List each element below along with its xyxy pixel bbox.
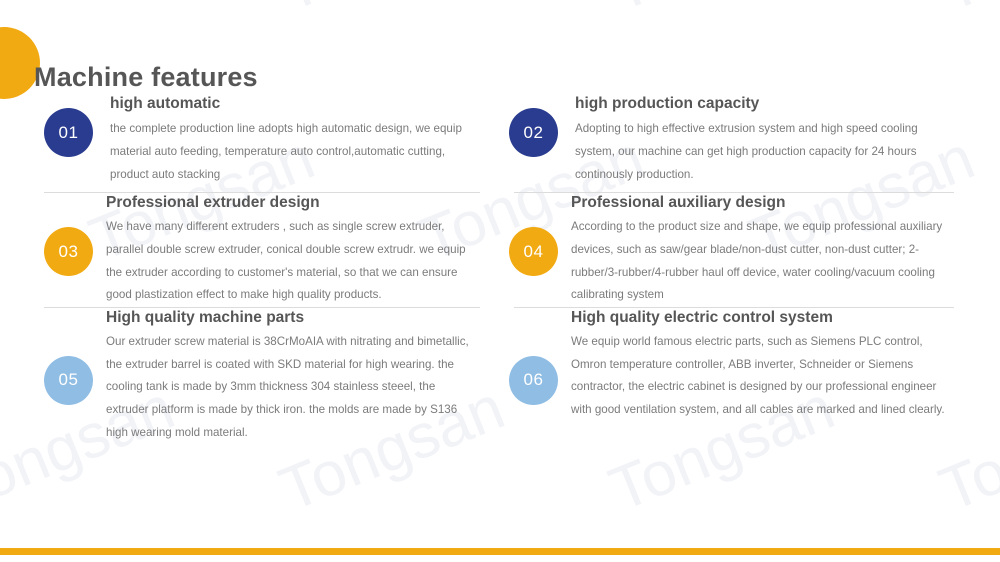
- feature-title-06: High quality electric control system: [571, 308, 958, 327]
- feature-row-3: 05 High quality machine parts Our extrud…: [0, 308, 1000, 444]
- feature-title-03: Professional extruder design: [106, 193, 478, 212]
- feature-body-03: We have many different extruders , such …: [106, 216, 478, 306]
- feature-body-06: We equip world famous electric parts, su…: [571, 331, 958, 421]
- slide-canvas: Machine features 01 high automatic the c…: [0, 0, 1000, 562]
- feature-number-label: 01: [59, 123, 79, 143]
- bottom-accent-bar: [0, 548, 1000, 555]
- feature-number-label: 05: [59, 370, 79, 390]
- feature-card-05[interactable]: 05 High quality machine parts Our extrud…: [44, 308, 478, 444]
- feature-card-01[interactable]: 01 high automatic the complete productio…: [44, 88, 478, 192]
- feature-title-01: high automatic: [106, 94, 478, 113]
- feature-column-left: 01 high automatic the complete productio…: [0, 88, 500, 192]
- feature-text-06: High quality electric control system We …: [509, 308, 958, 422]
- feature-grid: 01 high automatic the complete productio…: [0, 88, 1000, 444]
- feature-number-badge-04: 04: [509, 227, 558, 276]
- feature-number-label: 03: [59, 242, 79, 262]
- feature-text-03: Professional extruder design We have man…: [44, 193, 478, 307]
- feature-column-right: 06 High quality electric control system …: [500, 308, 1000, 444]
- feature-body-05: Our extruder screw material is 38CrMoAIA…: [106, 331, 478, 444]
- feature-row-1: 01 high automatic the complete productio…: [0, 88, 1000, 192]
- feature-body-01: the complete production line adopts high…: [106, 118, 478, 186]
- feature-column-right: 04 Professional auxiliary design Accordi…: [500, 193, 1000, 307]
- feature-title-05: High quality machine parts: [106, 308, 478, 327]
- feature-card-02[interactable]: 02 high production capacity Adopting to …: [509, 88, 958, 192]
- feature-column-right: 02 high production capacity Adopting to …: [500, 88, 1000, 192]
- feature-body-04: According to the product size and shape,…: [571, 216, 958, 306]
- feature-number-label: 04: [524, 242, 544, 262]
- feature-text-04: Professional auxiliary design According …: [509, 193, 958, 307]
- feature-column-left: 03 Professional extruder design We have …: [0, 193, 500, 307]
- feature-number-badge-02: 02: [509, 108, 558, 157]
- feature-title-02: high production capacity: [571, 94, 958, 113]
- feature-text-01: high automatic the complete production l…: [44, 88, 478, 186]
- feature-row-2: 03 Professional extruder design We have …: [0, 193, 1000, 307]
- feature-column-left: 05 High quality machine parts Our extrud…: [0, 308, 500, 444]
- feature-number-label: 06: [524, 370, 544, 390]
- feature-card-03[interactable]: 03 Professional extruder design We have …: [44, 193, 478, 307]
- feature-number-badge-03: 03: [44, 227, 93, 276]
- feature-body-02: Adopting to high effective extrusion sys…: [571, 118, 958, 186]
- feature-card-06[interactable]: 06 High quality electric control system …: [509, 308, 958, 422]
- feature-text-05: High quality machine parts Our extruder …: [44, 308, 478, 444]
- feature-text-02: high production capacity Adopting to hig…: [509, 88, 958, 186]
- feature-number-badge-06: 06: [509, 356, 558, 405]
- feature-number-badge-01: 01: [44, 108, 93, 157]
- feature-number-label: 02: [524, 123, 544, 143]
- feature-title-04: Professional auxiliary design: [571, 193, 958, 212]
- feature-number-badge-05: 05: [44, 356, 93, 405]
- feature-card-04[interactable]: 04 Professional auxiliary design Accordi…: [509, 193, 958, 307]
